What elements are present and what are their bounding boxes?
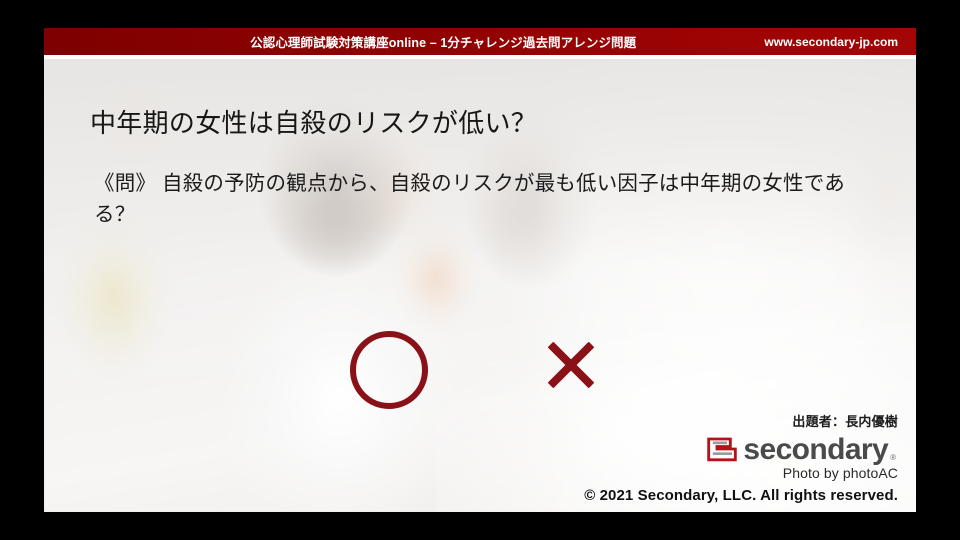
presentation-slide: 公認心理師試験対策講座online – 1分チャレンジ過去問アレンジ問題 www… [44,28,916,512]
slide-stage: 公認心理師試験対策講座online – 1分チャレンジ過去問アレンジ問題 www… [0,0,960,540]
brand-name: secondary [743,435,888,465]
cross-mark-icon [542,336,600,394]
circle-mark-icon [350,331,428,409]
author-label: 出題者：長内優樹 [584,411,898,430]
header-website-url: www.secondary-jp.com [764,35,898,49]
header-title: 公認心理師試験対策講座online – 1分チャレンジ過去問アレンジ問題 [62,32,764,51]
slide-header-bar: 公認心理師試験対策講座online – 1分チャレンジ過去問アレンジ問題 www… [44,28,916,55]
slide-content: 中年期の女性は自殺のリスクが低い？ 《問》 自殺の予防の観点から、自殺のリスクが… [44,59,916,512]
page-title: 中年期の女性は自殺のリスクが低い？ [90,103,537,140]
secondary-books-logo-icon [705,434,739,464]
question-text: 《問》 自殺の予防の観点から、自殺のリスクが最も低い因子は中年期の女性である？ [94,169,874,231]
photo-credit-label: Photo by photoAC [584,465,898,481]
brand-logo: secondary ® [584,434,898,464]
credits-block: 出題者：長内優樹 secondary ® Photo by photoAC © … [584,411,898,504]
copyright-label: © 2021 Secondary, LLC. All rights reserv… [584,487,898,504]
registered-trademark-icon: ® [890,453,896,462]
